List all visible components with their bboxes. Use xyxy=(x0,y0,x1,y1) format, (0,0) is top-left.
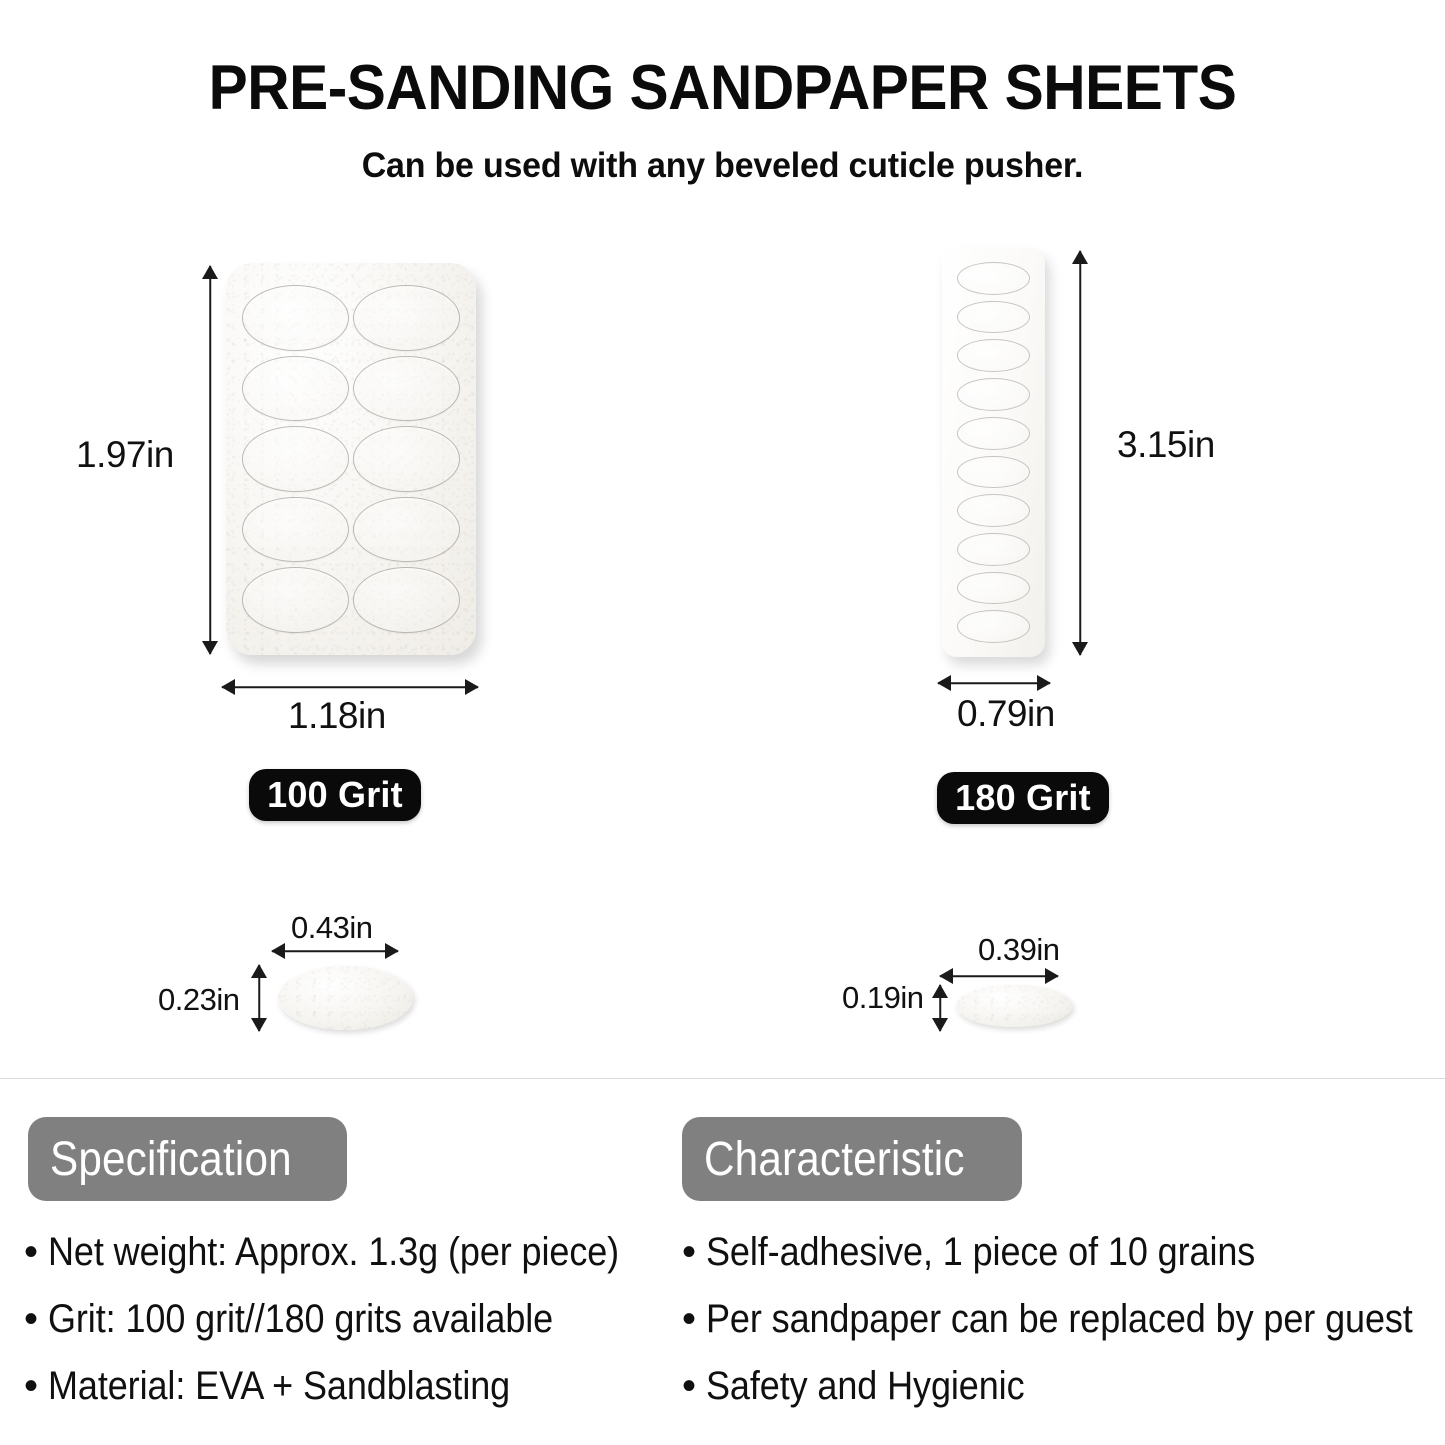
detail-oval-100-grit xyxy=(278,966,413,1030)
oval-cutout xyxy=(242,356,349,422)
oval-cutout xyxy=(957,494,1030,527)
dimension-label-detail-height-180grit: 0.19in xyxy=(842,980,923,1016)
list-item: • Safety and Hygienic xyxy=(682,1364,1445,1409)
grit-badge-100: 100 Grit xyxy=(249,769,421,821)
oval-cutout xyxy=(353,285,460,351)
dimension-arrow-vertical-180grit xyxy=(1071,251,1089,655)
list-item-text: Net weight: Approx. 1.3g (per piece) xyxy=(48,1230,619,1275)
characteristic-list: • Self-adhesive, 1 piece of 10 grains • … xyxy=(682,1230,1445,1431)
dimension-label-height-100grit: 1.97in xyxy=(76,434,174,476)
grit-badge-180: 180 Grit xyxy=(937,772,1109,824)
section-divider xyxy=(0,1078,1445,1079)
list-item: • Material: EVA + Sandblasting xyxy=(24,1364,683,1409)
list-item-text: Safety and Hygienic xyxy=(706,1364,1024,1409)
dimension-label-width-180grit: 0.79in xyxy=(957,693,1055,735)
oval-cutout xyxy=(957,456,1030,489)
list-item-text: Self-adhesive, 1 piece of 10 grains xyxy=(706,1230,1255,1275)
dimension-arrow-horizontal-180grit xyxy=(938,674,1050,692)
oval-cutout xyxy=(242,567,349,633)
section-heading-label: Specification xyxy=(50,1132,292,1187)
oval-cutout xyxy=(353,356,460,422)
grain-texture xyxy=(278,966,413,1030)
section-heading-characteristic: Characteristic xyxy=(682,1117,1022,1201)
oval-cutout-grid xyxy=(226,263,476,655)
page-title: PRE-SANDING SANDPAPER SHEETS xyxy=(51,52,1395,124)
bullet-dot-icon: • xyxy=(24,1366,48,1406)
list-item-text: Material: EVA + Sandblasting xyxy=(48,1364,510,1409)
oval-cutout xyxy=(957,339,1030,372)
dimension-label-detail-width-100grit: 0.43in xyxy=(291,910,372,946)
page-subtitle: Can be used with any beveled cuticle pus… xyxy=(22,146,1424,186)
oval-cutout xyxy=(242,426,349,492)
dimension-label-width-100grit: 1.18in xyxy=(288,695,386,737)
grain-texture xyxy=(956,985,1072,1027)
list-item: • Grit: 100 grit//180 grits available xyxy=(24,1297,683,1342)
oval-cutout xyxy=(957,610,1030,643)
oval-cutout xyxy=(957,378,1030,411)
list-item-text: Per sandpaper can be replaced by per gue… xyxy=(706,1297,1413,1342)
oval-cutout xyxy=(957,262,1030,295)
list-item: • Self-adhesive, 1 piece of 10 grains xyxy=(682,1230,1445,1275)
dimension-arrow-detail-width-180grit xyxy=(940,968,1058,984)
oval-cutout xyxy=(957,533,1030,566)
dimension-arrow-vertical-100grit xyxy=(201,266,219,654)
dimension-arrow-horizontal-100grit xyxy=(222,678,478,696)
bullet-dot-icon: • xyxy=(682,1366,706,1406)
sandpaper-sheet-100-grit xyxy=(226,263,476,655)
list-item: • Per sandpaper can be replaced by per g… xyxy=(682,1297,1445,1342)
bullet-dot-icon: • xyxy=(24,1299,48,1339)
bullet-dot-icon: • xyxy=(682,1232,706,1272)
oval-cutout xyxy=(957,572,1030,605)
section-heading-label: Characteristic xyxy=(704,1132,965,1187)
list-item-text: Grit: 100 grit//180 grits available xyxy=(48,1297,553,1342)
sandpaper-strip-180-grit xyxy=(942,248,1045,657)
product-infographic: PRE-SANDING SANDPAPER SHEETS Can be used… xyxy=(0,0,1445,1445)
detail-oval-180-grit xyxy=(956,985,1072,1027)
oval-cutout xyxy=(957,301,1030,334)
section-heading-specification: Specification xyxy=(28,1117,347,1201)
dimension-arrow-detail-height-180grit xyxy=(932,985,948,1031)
oval-cutout xyxy=(957,417,1030,450)
dimension-label-detail-width-180grit: 0.39in xyxy=(978,932,1059,968)
oval-cutout xyxy=(353,426,460,492)
oval-cutout xyxy=(353,497,460,563)
dimension-arrow-detail-height-100grit xyxy=(251,965,267,1031)
specification-list: • Net weight: Approx. 1.3g (per piece) •… xyxy=(24,1230,683,1431)
dimension-label-height-180grit: 3.15in xyxy=(1117,424,1215,466)
list-item: • Net weight: Approx. 1.3g (per piece) xyxy=(24,1230,683,1275)
bullet-dot-icon: • xyxy=(682,1299,706,1339)
oval-cutout xyxy=(242,285,349,351)
dimension-label-detail-height-100grit: 0.23in xyxy=(158,982,239,1018)
oval-cutout-column xyxy=(942,248,1045,657)
oval-cutout xyxy=(353,567,460,633)
oval-cutout xyxy=(242,497,349,563)
bullet-dot-icon: • xyxy=(24,1232,48,1272)
